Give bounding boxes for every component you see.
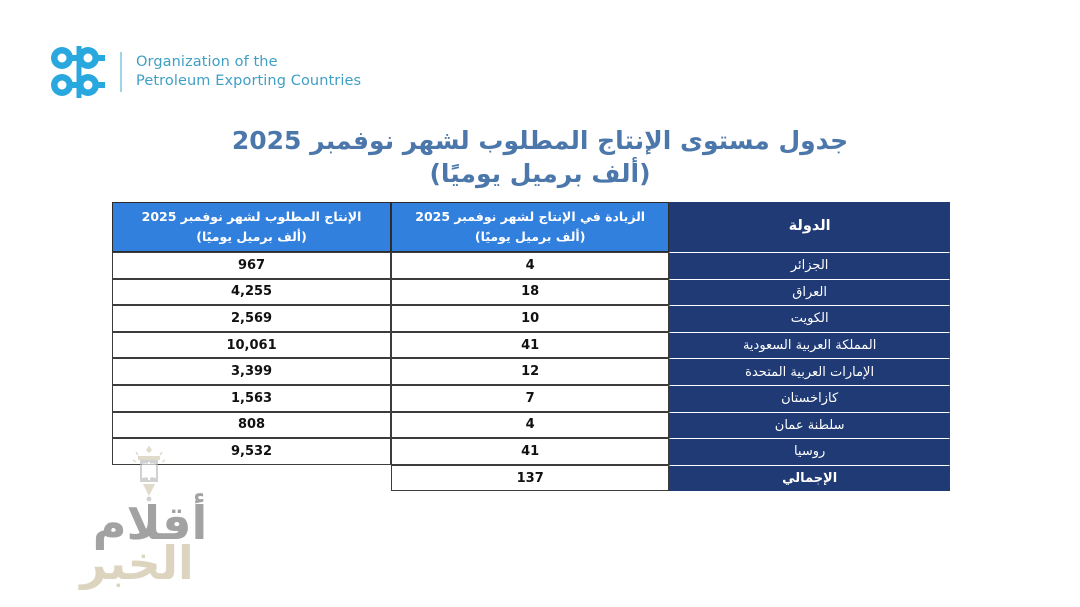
cell-country: سلطنة عمان <box>669 412 950 439</box>
table-row: الجزائر 4 967 <box>112 252 950 279</box>
cell-increase: 10 <box>391 305 669 332</box>
opec-brand-line-2: Petroleum Exporting Countries <box>136 72 361 91</box>
cell-country: كازاخستان <box>669 385 950 412</box>
cell-required: 1,563 <box>112 385 391 412</box>
cell-increase: 12 <box>391 358 669 385</box>
table-row: المملكة العربية السعودية 41 10,061 <box>112 332 950 359</box>
cell-required: 967 <box>112 252 391 279</box>
table-body: الجزائر 4 967 العراق 18 4,255 الكويت 10 … <box>112 252 950 491</box>
cell-country: المملكة العربية السعودية <box>669 332 950 359</box>
column-header-increase-line-1: الزيادة في الإنتاج لشهر نوفمبر 2025 <box>392 205 668 230</box>
page-title-line-1: جدول مستوى الإنتاج المطلوب لشهر نوفمبر 2… <box>0 124 1080 157</box>
table-row: الإمارات العربية المتحدة 12 3,399 <box>112 358 950 385</box>
table-row: العراق 18 4,255 <box>112 279 950 306</box>
column-header-required-line-2: (ألف برميل يوميًا) <box>113 229 390 250</box>
cell-required: 10,061 <box>112 332 391 359</box>
column-header-required: الإنتاج المطلوب لشهر نوفمبر 2025 (ألف بر… <box>112 202 391 252</box>
cell-required: 2,569 <box>112 305 391 332</box>
table-row: كازاخستان 7 1,563 <box>112 385 950 412</box>
cell-country: روسيا <box>669 438 950 465</box>
cell-increase: 7 <box>391 385 669 412</box>
page-title: جدول مستوى الإنتاج المطلوب لشهر نوفمبر 2… <box>0 124 1080 190</box>
opec-brand-line-1: Organization of the <box>136 53 361 72</box>
cell-country: الكويت <box>669 305 950 332</box>
table-total-row: الإجمالي 137 <box>112 465 950 492</box>
cell-country-total: الإجمالي <box>669 465 950 492</box>
watermark-line-2: الخبر <box>52 540 222 586</box>
production-table-wrapper: الدولة الزيادة في الإنتاج لشهر نوفمبر 20… <box>112 202 950 491</box>
cell-increase-total: 137 <box>391 465 669 492</box>
production-table: الدولة الزيادة في الإنتاج لشهر نوفمبر 20… <box>112 202 950 491</box>
page-title-line-2: (ألف برميل يوميًا) <box>0 157 1080 190</box>
cell-required: 808 <box>112 412 391 439</box>
cell-increase: 18 <box>391 279 669 306</box>
table-header-row: الدولة الزيادة في الإنتاج لشهر نوفمبر 20… <box>112 202 950 252</box>
cell-required: 9,532 <box>112 438 391 465</box>
opec-brand-text: Organization of the Petroleum Exporting … <box>136 53 361 90</box>
cell-increase: 4 <box>391 252 669 279</box>
cell-country: الإمارات العربية المتحدة <box>669 358 950 385</box>
watermark-line-1: أقلام <box>60 500 240 546</box>
cell-country: الجزائر <box>669 252 950 279</box>
cell-country: العراق <box>669 279 950 306</box>
column-header-increase: الزيادة في الإنتاج لشهر نوفمبر 2025 (ألف… <box>391 202 669 252</box>
table-row: الكويت 10 2,569 <box>112 305 950 332</box>
column-header-increase-line-2: (ألف برميل يوميًا) <box>392 229 668 250</box>
column-header-country-label: الدولة <box>670 213 949 240</box>
column-header-country: الدولة <box>669 202 950 252</box>
opec-brand: Organization of the Petroleum Exporting … <box>48 44 361 100</box>
cell-required: 3,399 <box>112 358 391 385</box>
column-header-required-line-1: الإنتاج المطلوب لشهر نوفمبر 2025 <box>113 205 390 230</box>
opec-logo-icon <box>48 44 110 100</box>
cell-required: 4,255 <box>112 279 391 306</box>
cell-required-total-empty <box>112 465 391 492</box>
cell-increase: 4 <box>391 412 669 439</box>
cell-increase: 41 <box>391 332 669 359</box>
brand-divider <box>120 52 122 92</box>
cell-increase: 41 <box>391 438 669 465</box>
table-row: روسيا 41 9,532 <box>112 438 950 465</box>
table-row: سلطنة عمان 4 808 <box>112 412 950 439</box>
